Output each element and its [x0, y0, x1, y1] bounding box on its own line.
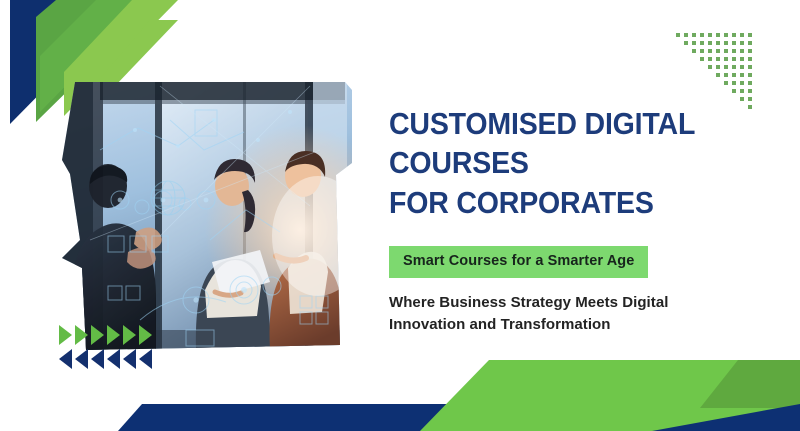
hero-banner: CUSTOMISED DIGITAL COURSES FOR CORPORATE… — [0, 0, 800, 431]
subtitle-text: Where Business Strategy Meets Digital In… — [389, 292, 689, 337]
tagline-badge: Smart Courses for a Smarter Age — [389, 246, 648, 278]
text-block: CUSTOMISED DIGITAL COURSES FOR CORPORATE… — [389, 104, 749, 337]
page-title: CUSTOMISED DIGITAL COURSES FOR CORPORATE… — [389, 104, 720, 222]
